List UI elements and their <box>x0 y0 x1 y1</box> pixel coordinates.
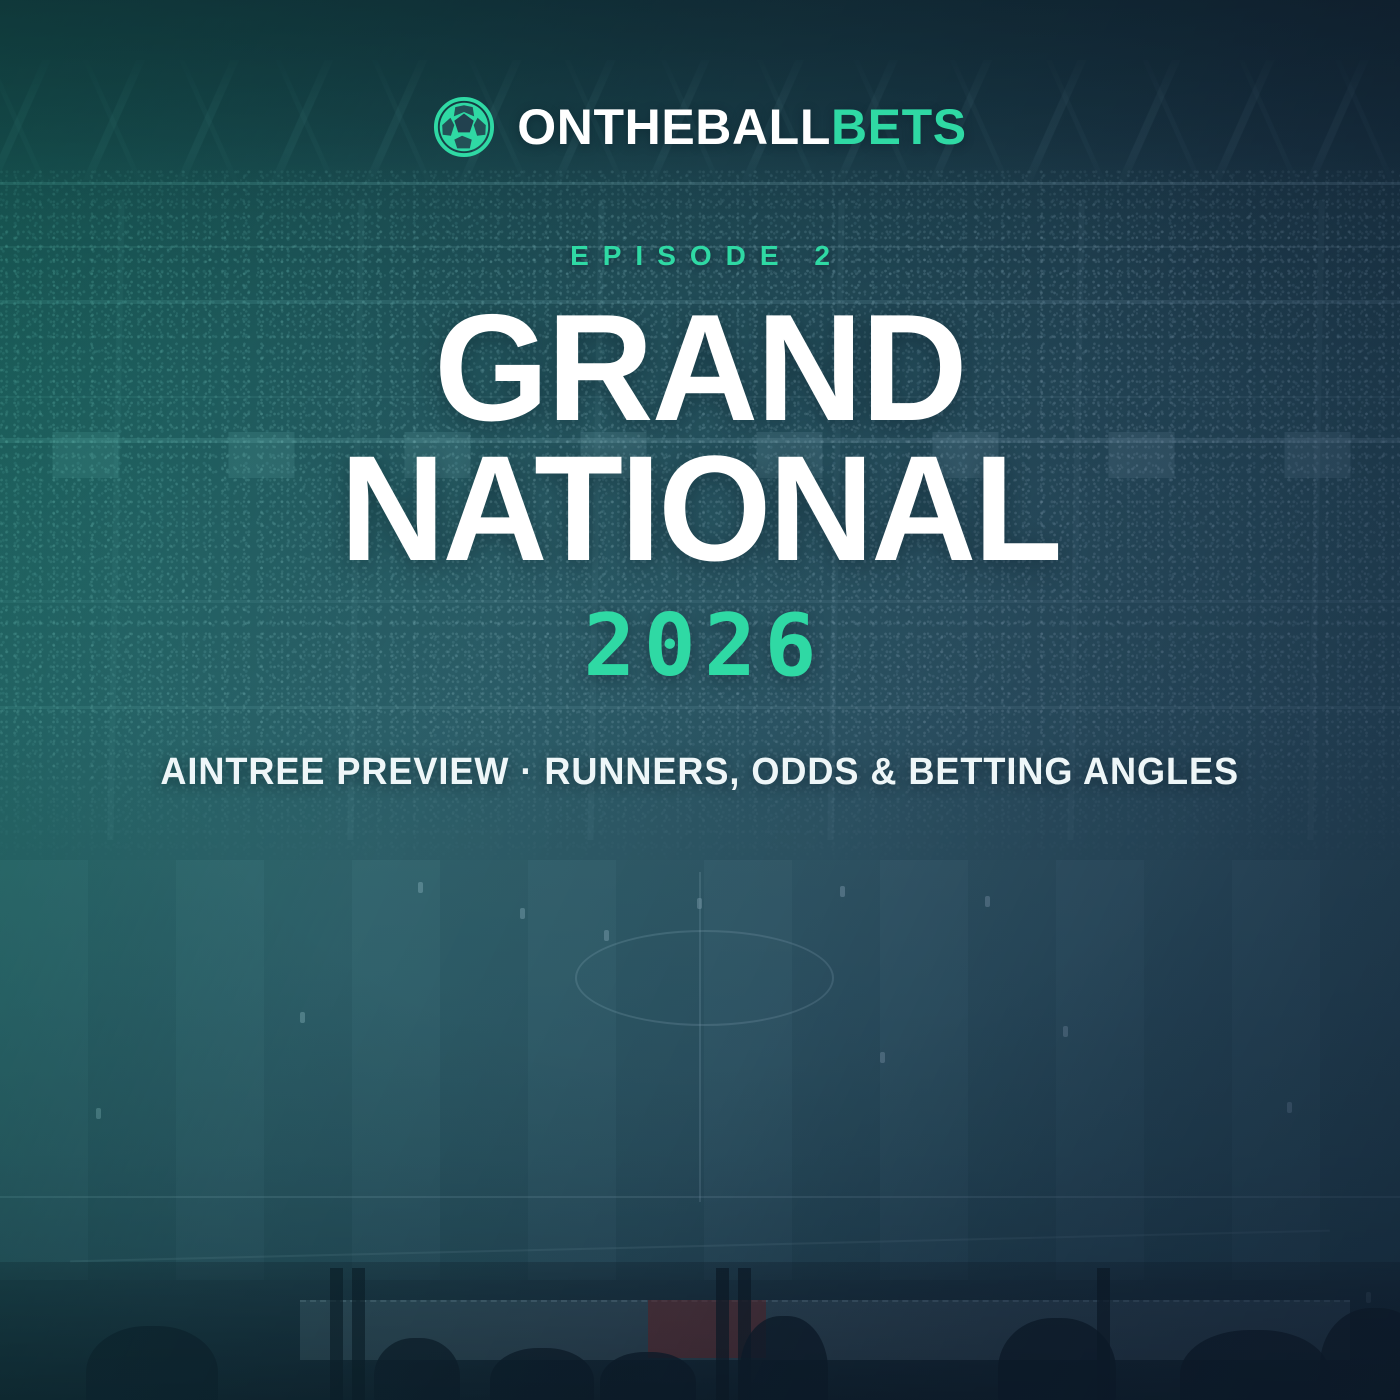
title-line-1: GRAND <box>21 298 1379 439</box>
cover-content: ONTHEBALLBETS EPISODE 2 GRAND NATIONAL 2… <box>0 0 1400 1400</box>
subtitle: AINTREE PREVIEW · RUNNERS, ODDS & BETTIN… <box>161 751 1240 794</box>
year-label: 2026 <box>575 603 825 689</box>
brand-name-accent: BETS <box>831 99 967 155</box>
soccer-ball-icon <box>433 96 495 158</box>
brand-name-primary: ONTHEBALL <box>517 99 831 155</box>
title-line-2: NATIONAL <box>21 439 1379 579</box>
brand-name: ONTHEBALLBETS <box>517 102 966 152</box>
brand-lockup: ONTHEBALLBETS <box>433 96 966 158</box>
episode-label: EPISODE 2 <box>556 240 844 272</box>
podcast-cover-art: ONTHEBALLBETS EPISODE 2 GRAND NATIONAL 2… <box>0 0 1400 1400</box>
title-block: GRAND NATIONAL <box>0 298 1400 579</box>
